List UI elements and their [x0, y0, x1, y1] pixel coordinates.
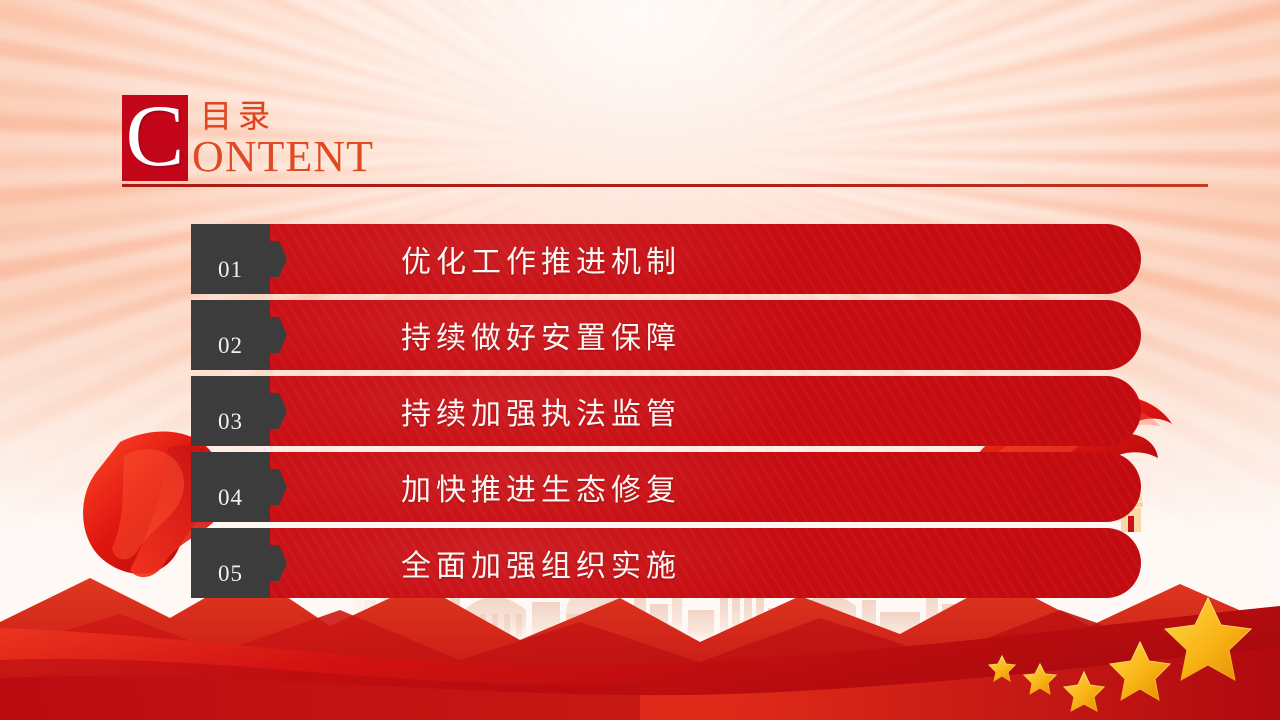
chevron-right-icon — [270, 469, 287, 505]
initial-letter: C — [122, 95, 188, 181]
content-label: 持续加强执法监管 — [401, 376, 681, 446]
content-number-badge: 01 — [191, 224, 270, 294]
chevron-right-icon — [270, 545, 287, 581]
header-divider — [122, 184, 1208, 187]
list-item[interactable]: 加快推进生态修复 04 — [191, 452, 1151, 522]
list-item[interactable]: 优化工作推进机制 01 — [191, 224, 1151, 294]
contents-list: 优化工作推进机制 01 持续做好安置保障 02 持续加强执法监管 — [191, 224, 1151, 604]
content-number-badge: 05 — [191, 528, 270, 598]
chevron-right-icon — [270, 317, 287, 353]
content-number: 03 — [218, 410, 243, 446]
page-title-english: ONTENT — [192, 131, 374, 182]
content-bar[interactable]: 全面加强组织实施 — [265, 528, 1141, 598]
content-number-badge: 03 — [191, 376, 270, 446]
chevron-right-icon — [270, 393, 287, 429]
content-number: 02 — [218, 334, 243, 370]
content-bar[interactable]: 持续做好安置保障 — [265, 300, 1141, 370]
content-bar[interactable]: 持续加强执法监管 — [265, 376, 1141, 446]
list-item[interactable]: 持续做好安置保障 02 — [191, 300, 1151, 370]
content-label: 全面加强组织实施 — [401, 528, 681, 598]
content-label: 加快推进生态修复 — [401, 452, 681, 522]
chevron-right-icon — [270, 241, 287, 277]
content-bar[interactable]: 加快推进生态修复 — [265, 452, 1141, 522]
content-label: 优化工作推进机制 — [401, 224, 681, 294]
content-number-badge: 02 — [191, 300, 270, 370]
content-number: 05 — [218, 562, 243, 598]
content-label: 持续做好安置保障 — [401, 300, 681, 370]
list-item[interactable]: 全面加强组织实施 05 — [191, 528, 1151, 598]
list-item[interactable]: 持续加强执法监管 03 — [191, 376, 1151, 446]
content-number: 04 — [218, 486, 243, 522]
content-bar[interactable]: 优化工作推进机制 — [265, 224, 1141, 294]
presentation-slide: C 目录 ONTENT 优化工作推进机制 01 持续做好安置保障 02 — [0, 0, 1280, 720]
content-number-badge: 04 — [191, 452, 270, 522]
content-number: 01 — [218, 258, 243, 294]
